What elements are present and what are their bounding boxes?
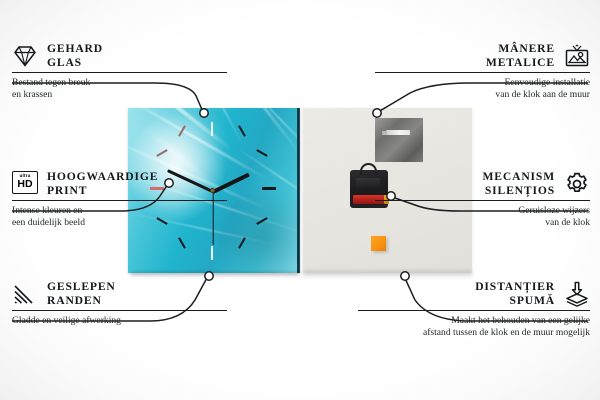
diamond-icon: [12, 43, 38, 69]
hanger-slot: [386, 130, 410, 135]
feature-description: Intense kleuren en een duidelijk beeld: [12, 205, 227, 230]
clock-tick: [211, 122, 213, 136]
feature-description: Bestand tegen breuk en krassen: [12, 77, 227, 102]
gear-icon: [564, 171, 590, 197]
feature-title: GESLEPEN RANDEN: [47, 280, 116, 307]
clock-tick: [238, 125, 246, 136]
clock-tick: [262, 187, 276, 190]
feature-manere-metalice[interactable]: MÂNERE METALICE Eenvoudige installatie v…: [375, 42, 590, 102]
feature-gehard-glas[interactable]: GEHARD GLAS Bestand tegen breuk en krass…: [12, 42, 227, 102]
ultra-hd-large-label: HD: [17, 179, 32, 190]
feature-divider: [375, 72, 590, 73]
back-panel-shadow: [303, 271, 472, 279]
feature-title: DISTANȚIER SPUMĂ: [475, 280, 555, 307]
feature-description: Gladde en veilige afwerking: [12, 315, 227, 327]
feature-description: Geruisloze wijzers van de klok: [375, 205, 590, 230]
feature-distantier-spuma[interactable]: DISTANȚIER SPUMĂ Maakt het behouden van …: [358, 280, 590, 340]
clock-tick: [178, 237, 186, 248]
feature-divider: [12, 310, 227, 311]
front-panel-shadow: [131, 272, 299, 278]
feature-divider: [375, 200, 590, 201]
feature-mecanism-silentios[interactable]: MECANISM SILENȚIOS Geruisloze wijzers va…: [375, 170, 590, 230]
glass-edge: [297, 108, 300, 273]
feature-header: DISTANȚIER SPUMĂ: [358, 280, 590, 307]
feature-hoogwaardige-print[interactable]: ultra HD HOOGWAARDIGE PRINT Intense kleu…: [12, 170, 227, 230]
feature-divider: [12, 72, 227, 73]
beveled-edges-icon: [12, 281, 38, 307]
picture-frame-icon: [564, 43, 590, 69]
metal-hanger-plate: [375, 118, 423, 162]
feature-geslepen-randen[interactable]: GESLEPEN RANDEN Gladde en veilige afwerk…: [12, 280, 227, 327]
feature-header: GESLEPEN RANDEN: [12, 280, 227, 307]
clock-tick: [256, 149, 267, 157]
feature-title: HOOGWAARDIGE PRINT: [47, 170, 158, 197]
feature-header: MÂNERE METALICE: [375, 42, 590, 69]
feature-header: ultra HD HOOGWAARDIGE PRINT: [12, 170, 227, 197]
feature-divider: [358, 310, 590, 311]
feature-header: GEHARD GLAS: [12, 42, 227, 69]
hanger-slot-secondary: [382, 131, 387, 135]
feature-description: Eenvoudige installatie van de klok aan d…: [375, 77, 590, 102]
feature-description: Maakt het behouden van een gelijke afsta…: [358, 315, 590, 340]
feature-title: GEHARD GLAS: [47, 42, 103, 69]
feature-title: MÂNERE METALICE: [486, 42, 555, 69]
feature-title: MECANISM SILENȚIOS: [483, 170, 556, 197]
foam-spacer: [371, 236, 386, 251]
feature-header: MECANISM SILENȚIOS: [375, 170, 590, 197]
feature-divider: [12, 200, 227, 201]
ultra-hd-icon: ultra HD: [12, 171, 38, 197]
spacer-arrow-icon: [564, 281, 590, 307]
infographic-stage: GEHARD GLAS Bestand tegen breuk en krass…: [0, 0, 600, 400]
clock-tick: [211, 246, 213, 260]
